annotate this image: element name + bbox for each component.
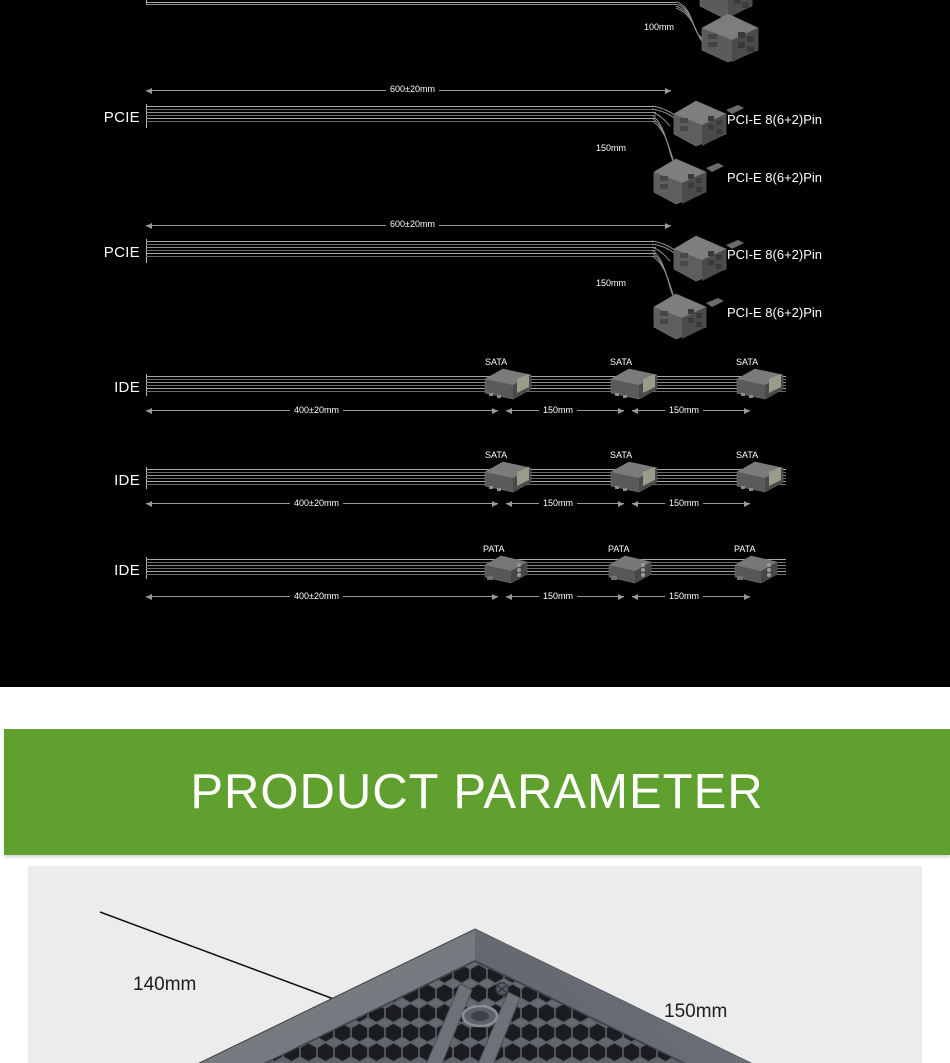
dimension-label-main-pcie-2: 600±20mm — [386, 219, 439, 229]
sata-connector-4a — [481, 458, 537, 496]
dimension-label-seg2-ide-3: 150mm — [665, 591, 703, 601]
wire — [146, 481, 786, 482]
dimension-label-main-ide-2: 400±20mm — [290, 498, 343, 508]
dimension-label-main-pcie-1: 600±20mm — [386, 84, 439, 94]
psu-body — [84, 929, 922, 1063]
pcie-connector-1b — [648, 154, 732, 208]
wire — [146, 247, 656, 248]
wire — [146, 4, 676, 5]
harness-tick — [146, 239, 147, 263]
section-divider — [0, 687, 950, 729]
wire — [146, 472, 786, 473]
connector-label-pcie-1b: PCI-E 8(6+2)Pin — [727, 170, 822, 185]
wire — [146, 244, 656, 245]
product-photo-panel: 140mm 150mm — [28, 866, 922, 1063]
connector-label-sata-3c: SATA — [736, 357, 758, 367]
pata-connector-5a — [481, 552, 537, 588]
psu-corner-illustration — [28, 866, 922, 1063]
dimension-label-main-ide-1: 400±20mm — [290, 405, 343, 415]
product-parameter-banner: PRODUCT PARAMETER — [4, 729, 950, 855]
wire — [146, 388, 786, 389]
dimension-label-seg2-ide-1: 150mm — [665, 405, 703, 415]
sata-connector-3a — [481, 365, 537, 403]
wire — [146, 562, 786, 563]
connector-label-sata-4a: SATA — [485, 450, 507, 460]
wire — [146, 241, 656, 242]
wire — [146, 469, 786, 470]
pcie-connector-2b — [648, 289, 732, 343]
dimension-label-seg2-ide-2: 150mm — [665, 498, 703, 508]
wire — [146, 256, 656, 257]
dimension-label-depth: 140mm — [133, 974, 196, 996]
sata-connector-3c — [733, 365, 789, 403]
wire — [146, 109, 656, 110]
wire — [146, 106, 656, 107]
row-label-pcie-2: PCIE — [60, 244, 140, 261]
wire — [146, 574, 786, 575]
sata-connector-4c — [733, 458, 789, 496]
wire — [146, 385, 786, 386]
row-label-pcie-1: PCIE — [60, 109, 140, 126]
connector-label-pcie-1a: PCI-E 8(6+2)Pin — [727, 112, 822, 127]
pcie-connector-top-partial-2 — [694, 8, 776, 66]
connector-label-pata-5c: PATA — [734, 544, 756, 554]
banner-title: PRODUCT PARAMETER — [190, 764, 763, 820]
wire — [146, 250, 656, 251]
dimension-label-branch-top: 100mm — [640, 22, 678, 32]
wire — [146, 391, 786, 392]
wire — [146, 571, 786, 572]
dimension-label-seg1-ide-2: 150mm — [539, 498, 577, 508]
connector-label-pcie-2a: PCI-E 8(6+2)Pin — [727, 247, 822, 262]
dimension-label-branch-pcie-2: 150mm — [592, 278, 630, 288]
wire — [146, 2, 676, 3]
connector-label-pata-5b: PATA — [608, 544, 630, 554]
connector-label-sata-4b: SATA — [610, 450, 632, 460]
dimension-label-width: 150mm — [664, 1001, 727, 1023]
dimension-label-seg1-ide-3: 150mm — [539, 591, 577, 601]
connector-label-sata-4c: SATA — [736, 450, 758, 460]
connector-label-sata-3b: SATA — [610, 357, 632, 367]
wire — [146, 379, 786, 380]
row-label-ide-sata-2: IDE — [60, 472, 140, 489]
wire — [146, 112, 656, 113]
wire — [146, 568, 786, 569]
row-label-ide-sata-1: IDE — [60, 379, 140, 396]
connector-label-sata-3a: SATA — [485, 357, 507, 367]
wire — [146, 253, 656, 254]
wire — [146, 115, 656, 116]
row-label-ide-pata-1: IDE — [60, 562, 140, 579]
connector-label-pata-5a: PATA — [483, 544, 505, 554]
pata-connector-5c — [731, 552, 787, 588]
dimension-label-main-ide-3: 400±20mm — [290, 591, 343, 601]
pata-connector-5b — [605, 552, 661, 588]
wire — [146, 475, 786, 476]
wire — [146, 484, 786, 485]
cable-diagram-panel: 100mm PCIE 600±20mm — [0, 0, 950, 687]
sata-connector-3b — [607, 365, 663, 403]
dimension-label-branch-pcie-1: 150mm — [592, 143, 630, 153]
wire — [146, 118, 656, 119]
harness-tick — [146, 104, 147, 128]
wire — [146, 382, 786, 383]
wire — [146, 478, 786, 479]
sata-connector-4b — [607, 458, 663, 496]
connector-label-pcie-2b: PCI-E 8(6+2)Pin — [727, 305, 822, 320]
wire — [146, 565, 786, 566]
wire — [146, 376, 786, 377]
dimension-label-seg1-ide-1: 150mm — [539, 405, 577, 415]
wire — [146, 121, 656, 122]
wire — [146, 559, 786, 560]
